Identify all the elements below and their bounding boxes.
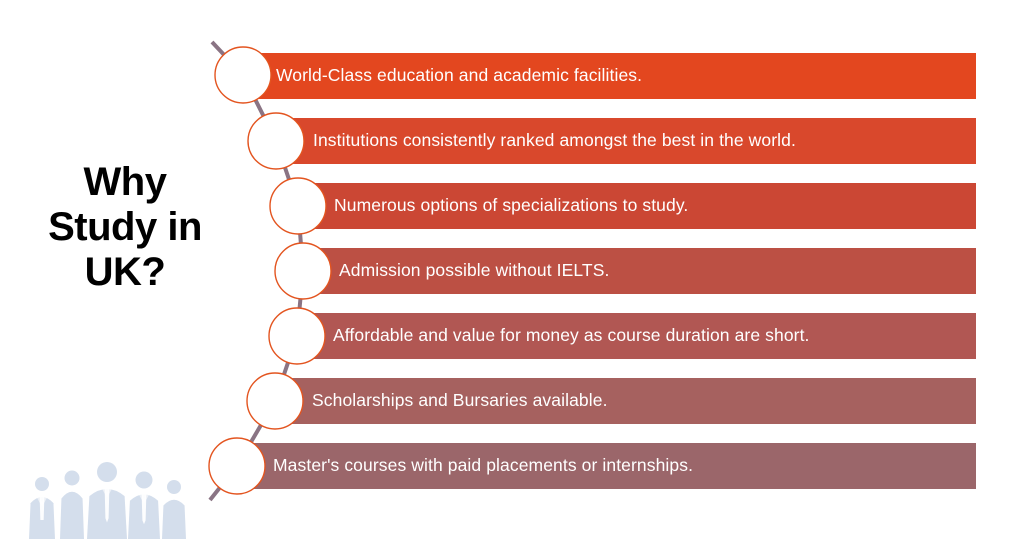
- statement-text-1: World-Class education and academic facil…: [276, 67, 642, 85]
- bar-fill-3: Numerous options of specializations to s…: [312, 183, 976, 229]
- bar-fill-6: Scholarships and Bursaries available.: [289, 378, 976, 424]
- statement-bar-1: World-Class education and academic facil…: [252, 53, 976, 99]
- bar-fill-7: Master's courses with paid placements or…: [251, 443, 976, 489]
- page-title: Why Study in UK?: [0, 160, 250, 294]
- statement-text-7: Master's courses with paid placements or…: [273, 457, 693, 475]
- statement-bar-2: Institutions consistently ranked amongst…: [290, 118, 976, 164]
- statement-text-6: Scholarships and Bursaries available.: [312, 392, 608, 410]
- statement-bar-5: Affordable and value for money as course…: [311, 313, 976, 359]
- statement-text-5: Affordable and value for money as course…: [333, 327, 810, 345]
- business-people-silhouette-icon: [14, 462, 204, 539]
- statement-text-4: Admission possible without IELTS.: [339, 262, 609, 280]
- statement-bar-3: Numerous options of specializations to s…: [312, 183, 976, 229]
- statement-bar-6: Scholarships and Bursaries available.: [289, 378, 976, 424]
- statement-bar-7: Master's courses with paid placements or…: [251, 443, 976, 489]
- statement-bar-4: Admission possible without IELTS.: [318, 248, 976, 294]
- statement-text-3: Numerous options of specializations to s…: [334, 197, 688, 215]
- bar-fill-4: Admission possible without IELTS.: [318, 248, 976, 294]
- bar-fill-2: Institutions consistently ranked amongst…: [290, 118, 976, 164]
- bar-fill-5: Affordable and value for money as course…: [311, 313, 976, 359]
- statement-text-2: Institutions consistently ranked amongst…: [313, 132, 796, 150]
- infographic-canvas: World-Class education and academic facil…: [0, 0, 1024, 539]
- bar-fill-1: World-Class education and academic facil…: [252, 53, 976, 99]
